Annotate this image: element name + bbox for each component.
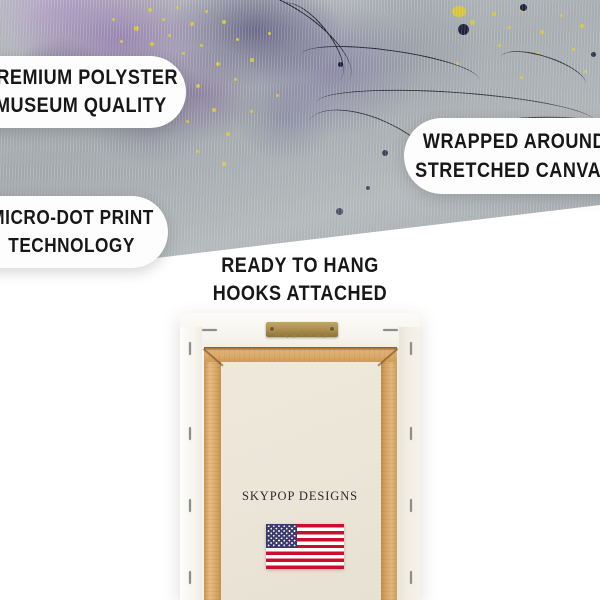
staple (410, 427, 412, 440)
feature-pill-premium-polyster: PREMIUM POLYSTER MUSEUM QUALITY (0, 56, 186, 128)
feature-line-2: MUSEUM QUALITY (0, 92, 167, 120)
stretcher-bar-right (381, 347, 397, 600)
stretched-canvas-back-photo: SKYPOP DESIGNS (180, 313, 420, 600)
feature-line-1: WRAPPED AROUND (422, 127, 600, 156)
staple (410, 571, 412, 584)
staple (189, 427, 191, 440)
staple (202, 329, 217, 331)
us-flag-icon (266, 524, 344, 569)
wood-grain (204, 347, 221, 600)
feature-pill-wrapped-around: WRAPPED AROUND STRETCHED CANVAS (404, 118, 600, 194)
staple (189, 571, 191, 584)
feature-line-1: MICRO-DOT PRINT (0, 204, 154, 232)
sawtooth-hanger-icon (266, 322, 338, 337)
staple (410, 342, 412, 355)
canvas-wrap-right-edge (399, 327, 420, 600)
caption-line-1: READY TO HANG (42, 252, 558, 280)
wood-grain (381, 347, 397, 600)
stretcher-bar-left (204, 347, 221, 600)
flag-union (266, 524, 297, 548)
product-infographic: PREMIUM POLYSTER MUSEUM QUALITY WRAPPED … (0, 0, 600, 600)
brand-label: SKYPOP DESIGNS (180, 489, 420, 504)
flag-stars (266, 524, 297, 548)
feature-line-1: PREMIUM POLYSTER (0, 64, 178, 92)
brand-name: SKYPOP DESIGNS (180, 489, 420, 504)
hanger-screw-hole (329, 326, 335, 332)
caption-line-2: HOOKS ATTACHED (42, 280, 558, 308)
staple (189, 342, 191, 355)
staple (383, 329, 398, 331)
caption-ready-to-hang: READY TO HANG HOOKS ATTACHED (0, 252, 600, 308)
canvas-wrap-left-edge (180, 327, 202, 600)
hanger-screw-hole (269, 326, 275, 332)
stretcher-bevel-shadow (204, 347, 397, 351)
feature-line-2: STRETCHED CANVAS (415, 156, 600, 185)
